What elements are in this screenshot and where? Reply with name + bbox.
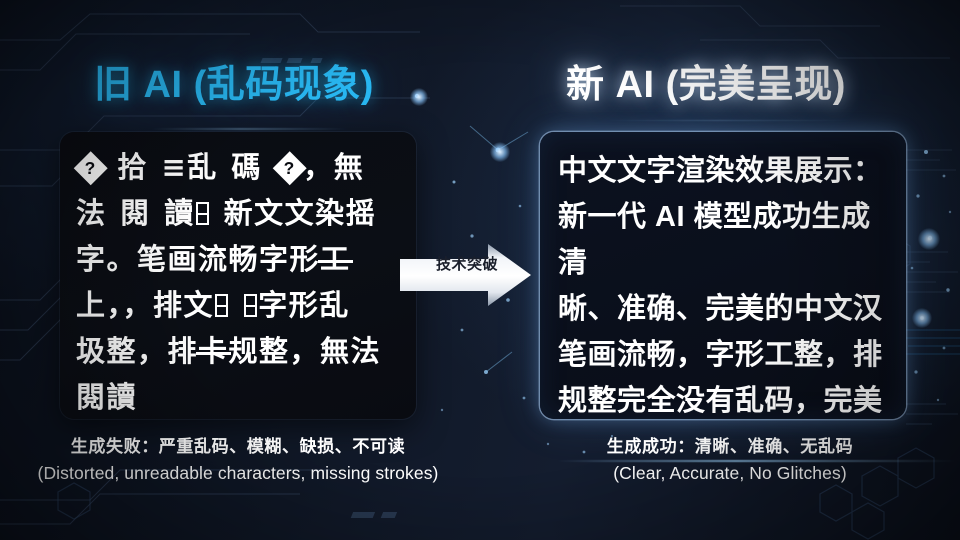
left-caption-cn: 生成失败：严重乱码、模糊、缺损、不可读 xyxy=(20,434,456,460)
garbled-text-line: 上，，排文 字形乱 xyxy=(76,282,402,328)
left-title: 旧 AI (乱码现象) xyxy=(94,66,374,104)
left-caption-en: (Distorted, unreadable characters, missi… xyxy=(20,460,456,486)
garbled-text-line: 圾整，排卡规整，無法 xyxy=(76,328,402,374)
replacement-character-icon xyxy=(273,151,307,185)
clean-text-line: 新一代 AI 模型成功生成清 xyxy=(558,194,888,286)
right-caption-cn: 生成成功：清晰、准确、无乱码 xyxy=(520,434,940,460)
garbled-text-run: 规整，無法 xyxy=(229,334,382,368)
garbled-text-block: 拾 ≡乱 碼 ，無法 閱 讀 新文文染摇字。笔画流畅字形工上，，排文 字形乱圾整… xyxy=(60,132,416,419)
garbled-text-run: 新文文染摇 xyxy=(210,196,376,230)
clean-text-line: 笔画流畅，字形工整，排 xyxy=(558,332,888,378)
new-ai-output-panel: 中文文字渲染效果展示：新一代 AI 模型成功生成清晰、准确、完美的中文汉笔画流畅… xyxy=(540,132,906,419)
garbled-text-run: 字形乱 xyxy=(258,288,350,322)
garbled-text-run: 乱 碼 xyxy=(187,150,275,184)
light-streak xyxy=(150,128,350,130)
garbled-text-run: 法 閱 讀 xyxy=(76,196,195,230)
missing-glyph-box-icon xyxy=(196,202,209,225)
garbled-text-run xyxy=(229,288,243,322)
struck-glyph: 工 xyxy=(320,242,351,276)
left-caption: 生成失败：严重乱码、模糊、缺损、不可读 (Distorted, unreadab… xyxy=(20,434,456,486)
breakthrough-arrow-icon xyxy=(400,243,532,307)
garbled-text-line: 閱讀 xyxy=(76,374,402,419)
right-caption: 生成成功：清晰、准确、无乱码 (Clear, Accurate, No Glit… xyxy=(520,434,940,486)
clean-text-line: 规整完全没有乱码，完美 xyxy=(558,378,888,419)
garbled-text-line: 字。笔画流畅字形工 xyxy=(76,236,402,282)
clean-text-block: 中文文字渲染效果展示：新一代 AI 模型成功生成清晰、准确、完美的中文汉笔画流畅… xyxy=(540,132,906,419)
glow-particle xyxy=(912,308,932,328)
missing-glyph-box-icon xyxy=(244,294,257,317)
struck-glyph: 卡 xyxy=(198,334,229,368)
light-streak xyxy=(600,120,860,121)
replacement-character-icon xyxy=(74,151,108,185)
garbled-text-run: 上，，排文 xyxy=(76,288,214,322)
garbled-text-line: 法 閱 讀 新文文染摇 xyxy=(76,190,402,236)
slide-canvas: 旧 AI (乱码现象) 新 AI (完美呈现) 拾 ≡乱 碼 ，無法 閱 讀 新… xyxy=(0,0,960,540)
glow-particle xyxy=(410,88,428,106)
glow-particle xyxy=(918,228,940,250)
garbled-text-line: 拾 ≡乱 碼 ，無 xyxy=(76,144,402,190)
glow-particle xyxy=(490,142,510,162)
clean-text-line: 中文文字渲染效果展示： xyxy=(558,148,888,194)
garbled-text-run: 圾整，排 xyxy=(76,334,198,368)
clean-text-line: 晰、准确、完美的中文汉 xyxy=(558,286,888,332)
garbled-text-run: ，無 xyxy=(303,150,364,184)
garbled-text-run: 拾 xyxy=(104,150,162,184)
missing-glyph-box-icon xyxy=(215,294,228,317)
right-title: 新 AI (完美呈现) xyxy=(566,66,846,104)
old-ai-output-panel: 拾 ≡乱 碼 ，無法 閱 讀 新文文染摇字。笔画流畅字形工上，，排文 字形乱圾整… xyxy=(60,132,416,419)
arrow-label: 技术突破 xyxy=(424,256,510,274)
garbled-text-run: ≡ xyxy=(161,150,187,184)
garbled-text-run: 字。笔画流畅字形 xyxy=(76,242,320,276)
right-caption-en: (Clear, Accurate, No Glitches) xyxy=(520,460,940,486)
garbled-text-run: 閱讀 xyxy=(76,380,137,414)
